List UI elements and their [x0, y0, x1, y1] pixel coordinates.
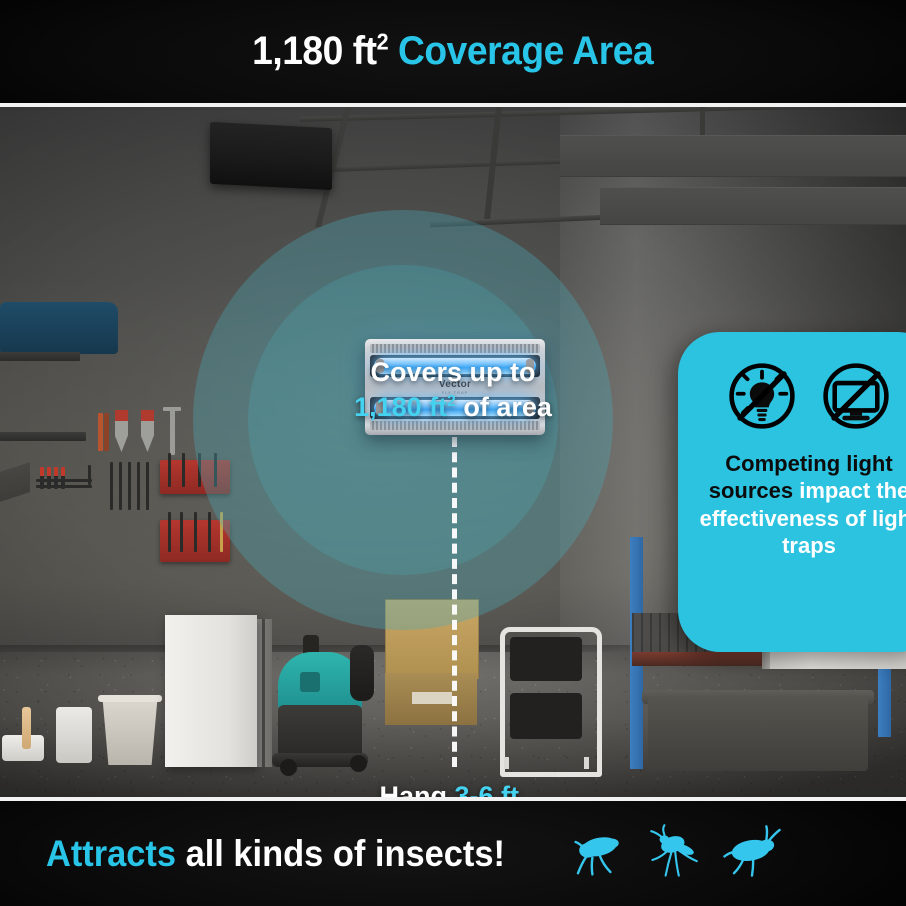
- shop-vac-wheel-left: [280, 759, 297, 776]
- pegboard-tool-b: [182, 453, 185, 487]
- page-title: 1,180 ft2 Coverage Area: [252, 29, 653, 74]
- shop-vac-hose: [350, 645, 374, 701]
- hang-value: 3-6 ft.: [455, 781, 527, 797]
- plastic-bucket: [100, 697, 160, 765]
- cockroach-icon: [719, 824, 785, 884]
- shop-vac-wheel-right: [350, 755, 367, 772]
- competing-light-callout-card: Competing light sources impact the effec…: [678, 332, 906, 652]
- pegboard2-tool-a: [168, 512, 171, 552]
- blue-tool-bag: [0, 302, 118, 354]
- promo-infographic: 1,180 ft2 Coverage Area: [0, 0, 906, 906]
- hang-height-dashed-line: [452, 437, 457, 767]
- folded-ladder: [262, 619, 265, 767]
- white-cabinet: [165, 615, 257, 767]
- box-shipping-label: [412, 692, 452, 704]
- chisel-1: [110, 462, 113, 510]
- chisel-2: [119, 462, 122, 510]
- step-stool-leg-left: [504, 757, 509, 769]
- card-icon-row: [678, 332, 906, 434]
- wall-shelf-1: [0, 352, 80, 361]
- header-measure-sup: 2: [377, 29, 389, 55]
- storage-bin: [648, 697, 868, 771]
- header-measure: 1,180 ft: [252, 29, 376, 73]
- pliers-2: [104, 413, 109, 451]
- shop-vac-badge: [300, 672, 320, 692]
- wrench-large: [170, 407, 175, 455]
- pegboard2-tool-b: [180, 512, 183, 552]
- screwdriver-4: [61, 467, 65, 489]
- card-text-block: Competing light sources impact the effec…: [678, 434, 906, 559]
- chisel-5: [146, 462, 149, 510]
- pegboard2-tool-d: [208, 512, 211, 552]
- no-monitor-icon: [818, 358, 894, 434]
- tool-rack-end: [88, 465, 91, 485]
- white-jug: [56, 707, 92, 763]
- mosquito-icon: [641, 824, 707, 884]
- shop-vac-drum: [278, 705, 362, 759]
- covers-value: 1,180 ft: [354, 392, 447, 422]
- fly-icon: [563, 824, 629, 884]
- bottle: [22, 707, 31, 749]
- hang-word: Hang: [379, 781, 454, 797]
- no-lightbulb-icon: [724, 358, 800, 434]
- device-grille-top: [370, 344, 540, 353]
- step-stool-bottom-step: [510, 693, 582, 739]
- chisel-4: [137, 462, 140, 510]
- garage-door-panel-2: [600, 187, 906, 225]
- covers-value-sup: 2: [447, 393, 456, 410]
- step-stool-leg-right: [584, 757, 589, 769]
- hang-height-text: Hang 3-6 ft. off the ground: [258, 779, 648, 797]
- footer-rest: all kinds of insects!: [176, 833, 505, 874]
- footer-accent-word: Attracts: [46, 833, 176, 874]
- header-banner: 1,180 ft2 Coverage Area: [0, 0, 906, 103]
- garage-door-panel-1: [560, 135, 906, 177]
- screwdriver-3: [54, 467, 58, 489]
- footer-title: Attracts all kinds of insects!: [46, 833, 505, 875]
- bucket-rim: [98, 695, 162, 702]
- pliers-1: [98, 413, 103, 451]
- chisel-3: [128, 462, 131, 510]
- covers-line1: Covers up to: [370, 357, 535, 387]
- coverage-callout-text: Covers up to 1,180 ft2 of area: [258, 355, 648, 425]
- covers-line2-tail: of area: [456, 392, 552, 422]
- garage-photo: Vector FLY TRAP Covers up to 1,180 ft2 o…: [0, 107, 906, 797]
- pegboard2-tool-c: [194, 512, 197, 552]
- wall-shelf-2: [0, 432, 86, 441]
- step-stool-top-step: [510, 637, 582, 681]
- garage-door-opener: [210, 122, 332, 190]
- wrench-head: [163, 407, 181, 411]
- screwdriver-2: [47, 467, 51, 489]
- footer-banner: Attracts all kinds of insects!: [0, 801, 906, 906]
- screwdriver-1: [40, 467, 44, 489]
- insect-icon-row: [563, 824, 785, 884]
- pegboard-tool-a: [168, 453, 171, 487]
- garage-door-track: [315, 107, 601, 227]
- header-accent: Coverage Area: [388, 29, 653, 73]
